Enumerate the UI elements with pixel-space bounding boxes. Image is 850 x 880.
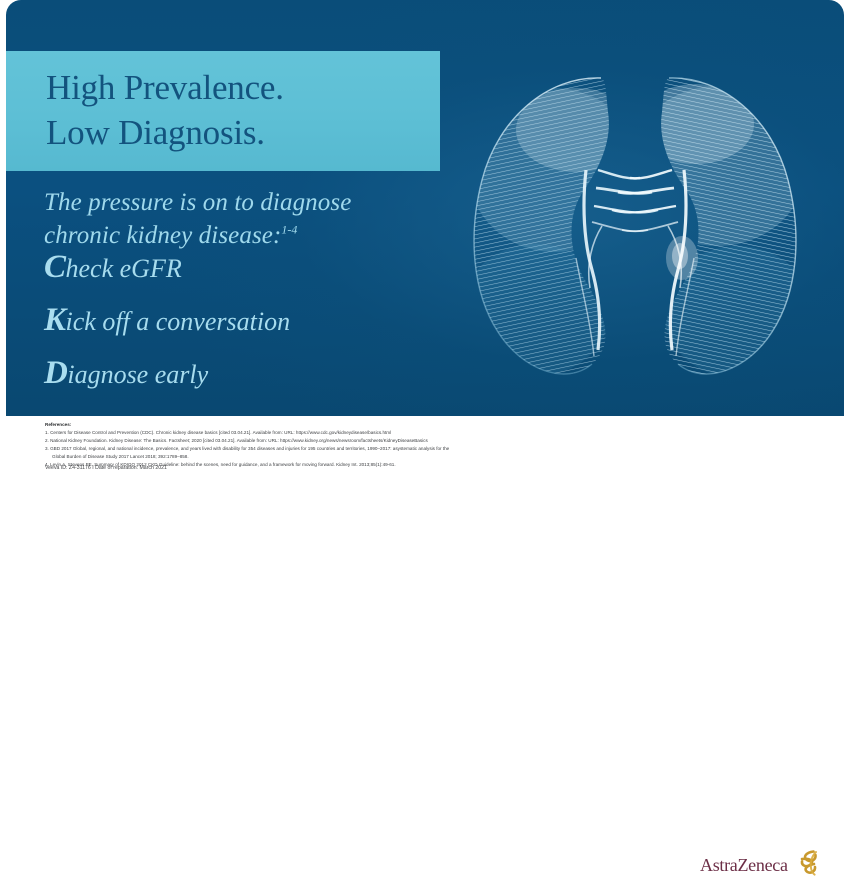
astrazeneca-logo: AstraZeneca — [700, 850, 822, 880]
subtitle-line-2: chronic kidney disease: — [44, 222, 281, 249]
kidneys-line-art-icon — [426, 20, 844, 410]
references-title: References: — [45, 421, 675, 429]
astrazeneca-wordmark: AstraZeneca — [700, 855, 788, 876]
references-block: References: 1. Centers for Disease Contr… — [45, 421, 675, 469]
reference-item-1: 1. Centers for Disease Control and Preve… — [45, 429, 675, 437]
ckd-item-check: Check eGFR — [44, 251, 474, 284]
subtitle-reference-superscript: 1-4 — [281, 223, 297, 237]
astrazeneca-swirl-icon — [794, 848, 822, 876]
ckd-item-kick: Kick off a conversation — [44, 304, 474, 337]
ckd-text-kick: ick off a conversation — [66, 307, 291, 336]
kidney-health-poster: High Prevalence. Low Diagnosis. The pres… — [0, 0, 850, 478]
reference-item-3: 3. GBD 2017 Global, regional, and nation… — [45, 445, 675, 453]
poster-panel: High Prevalence. Low Diagnosis. The pres… — [6, 0, 844, 416]
ckd-initial-d: D — [44, 355, 67, 391]
headline-line-1: High Prevalence. — [46, 67, 446, 110]
ckd-text-diagnose: iagnose early — [67, 360, 208, 389]
page-title: High Prevalence. Low Diagnosis. — [46, 52, 446, 170]
ckd-initial-k: K — [44, 302, 66, 338]
ckd-text-check: heck eGFR — [66, 254, 182, 283]
veeva-id-line: Veeva ID: Z4-31176 I Date of reparation:… — [45, 465, 167, 471]
subtitle: The pressure is on to diagnose chronic k… — [44, 186, 464, 253]
footer: References: 1. Centers for Disease Contr… — [0, 416, 850, 478]
reference-item-3-continuation: Global Burden of Disease Study 2017 Lanc… — [45, 453, 675, 461]
subtitle-line-1: The pressure is on to diagnose — [44, 189, 351, 216]
ckd-initial-c: C — [44, 249, 66, 285]
headline-line-2: Low Diagnosis. — [46, 112, 446, 155]
reference-item-2: 2. National Kidney Foundation. Kidney Di… — [45, 437, 675, 445]
ckd-mnemonic-list: Check eGFR Kick off a conversation Diagn… — [44, 251, 474, 390]
ckd-item-diagnose: Diagnose early — [44, 357, 474, 390]
